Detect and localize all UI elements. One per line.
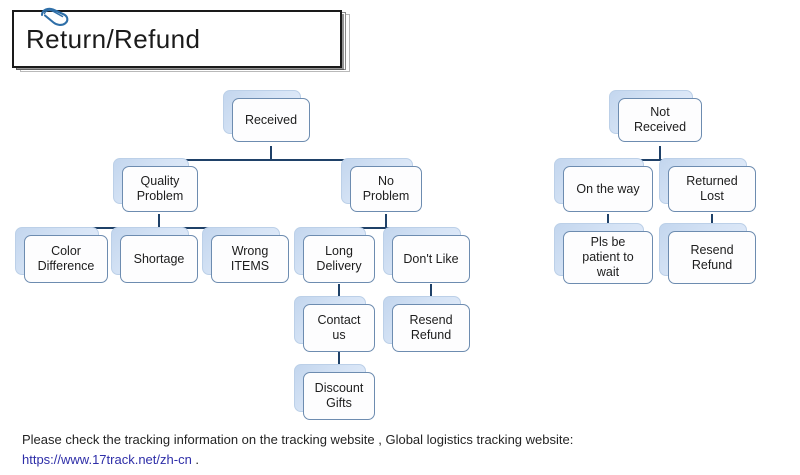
paperclip-icon [38, 6, 72, 36]
node-shortage[interactable]: Shortage [120, 235, 198, 283]
node-label: Shortage [120, 235, 198, 283]
footer-trailing-period: . [192, 452, 199, 467]
node-pls-be-patient[interactable]: Pls be patient to wait [563, 231, 653, 284]
node-on-the-way[interactable]: On the way [563, 166, 653, 212]
node-label: Wrong ITEMS [211, 235, 289, 283]
node-label: Quality Problem [122, 166, 198, 212]
node-label: Discount Gifts [303, 372, 375, 420]
node-label: Don't Like [392, 235, 470, 283]
node-label: No Problem [350, 166, 422, 212]
node-label: Pls be patient to wait [563, 231, 653, 284]
node-wrong-items[interactable]: Wrong ITEMS [211, 235, 289, 283]
node-quality-problem[interactable]: Quality Problem [122, 166, 198, 212]
node-contact-us[interactable]: Contact us [303, 304, 375, 352]
footer-note: Please check the tracking information on… [22, 430, 782, 470]
node-label: Received [232, 98, 310, 142]
node-long-delivery[interactable]: Long Delivery [303, 235, 375, 283]
node-label: Long Delivery [303, 235, 375, 283]
footer-line-1: Please check the tracking information on… [22, 430, 782, 450]
node-label: Not Received [618, 98, 702, 142]
node-received[interactable]: Received [232, 98, 310, 142]
node-discount-gifts[interactable]: Discount Gifts [303, 372, 375, 420]
node-resend-refund-returnedlost[interactable]: Resend Refund [668, 231, 756, 284]
node-not-received[interactable]: Not Received [618, 98, 702, 142]
node-label: Returned Lost [668, 166, 756, 212]
node-label: Resend Refund [668, 231, 756, 284]
node-returned-lost[interactable]: Returned Lost [668, 166, 756, 212]
node-label: Contact us [303, 304, 375, 352]
node-color-difference[interactable]: Color Difference [24, 235, 108, 283]
node-label: Resend Refund [392, 304, 470, 352]
tracking-website-link[interactable]: https://www.17track.net/zh-cn [22, 452, 192, 467]
footer-line-2: https://www.17track.net/zh-cn . [22, 450, 782, 470]
node-label: Color Difference [24, 235, 108, 283]
node-label: On the way [563, 166, 653, 212]
title-banner: Return/Refund [12, 10, 342, 68]
node-no-problem[interactable]: No Problem [350, 166, 422, 212]
node-dont-like[interactable]: Don't Like [392, 235, 470, 283]
node-resend-refund-dontlike[interactable]: Resend Refund [392, 304, 470, 352]
